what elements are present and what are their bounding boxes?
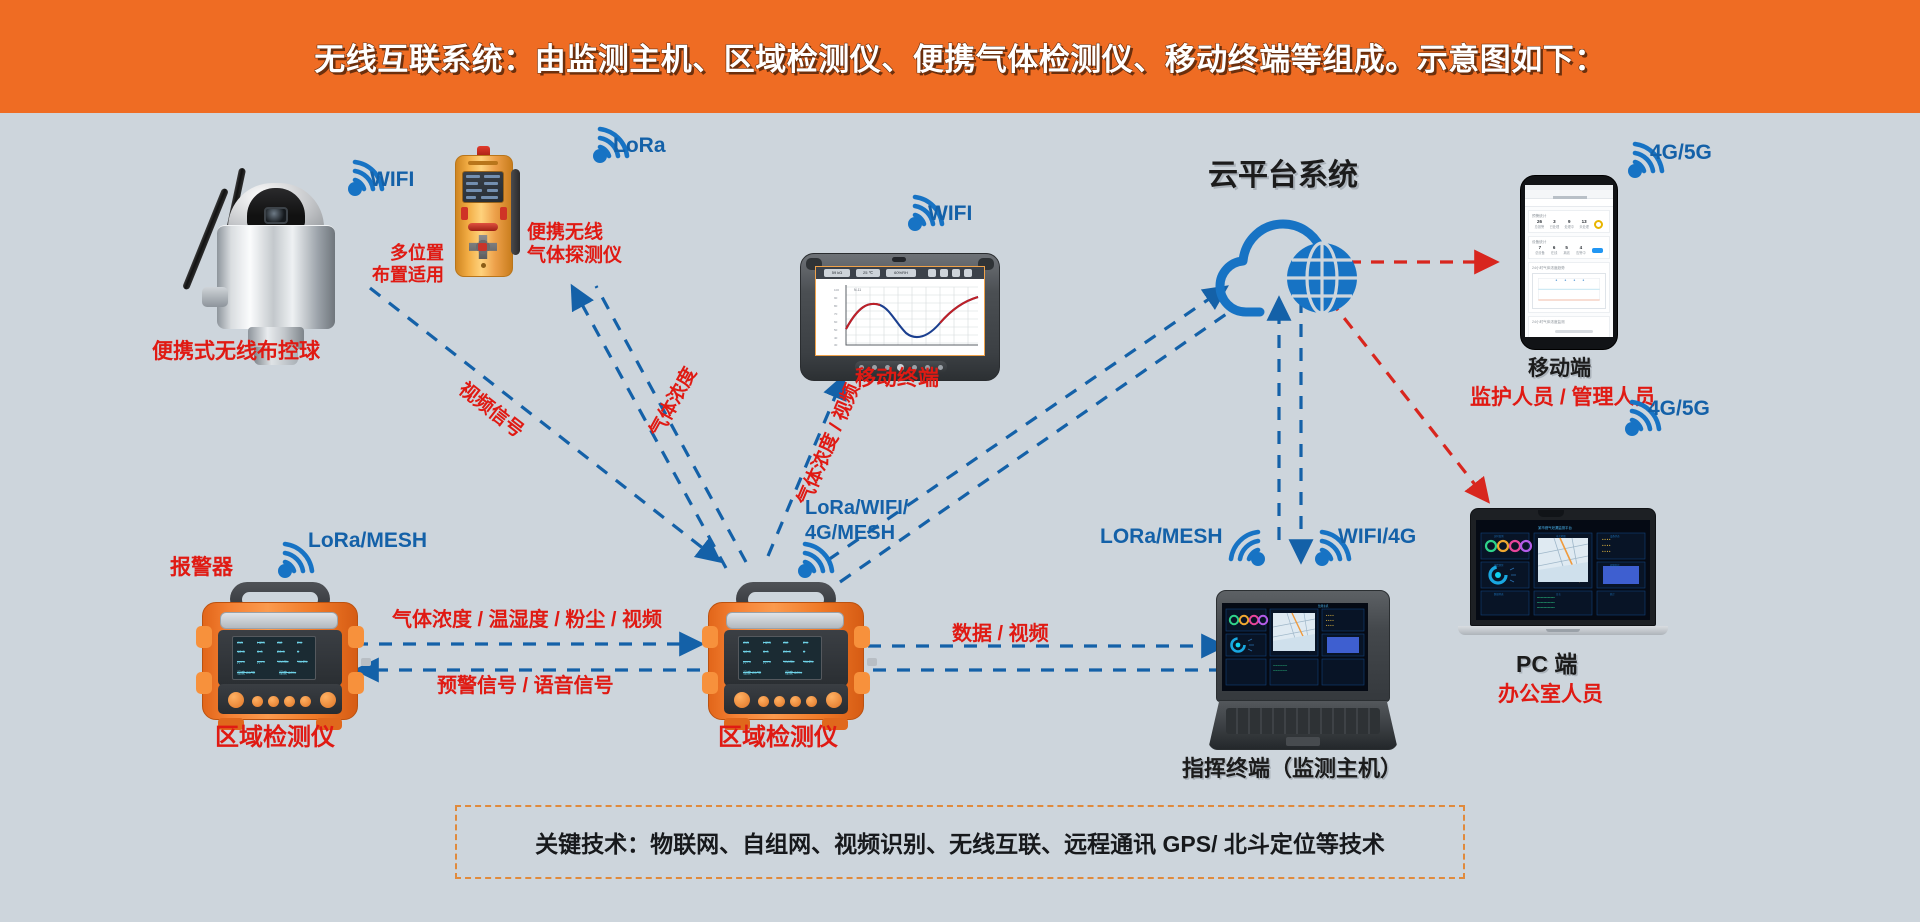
detector-button[interactable] <box>300 696 311 707</box>
cloud-platform-icon <box>1212 212 1382 324</box>
tablet-statusbar: 59 kΩ 25 ℃ 60%RH <box>816 267 984 279</box>
detector-vent <box>468 161 498 165</box>
phone-device-card: 设备统计 7总设备 6在线 5离线 4告警中 <box>1528 236 1610 259</box>
camera-lens <box>264 207 288 224</box>
bumper <box>854 672 870 694</box>
phone-appbar <box>1525 190 1613 199</box>
phone-kpi: 7总设备 <box>1535 245 1545 255</box>
header-banner: 无线互联系统：由监测主机、区域检测仪、便携气体检测仪、移动终端等组成。示意图如下… <box>0 0 1920 113</box>
detector-power-button[interactable] <box>468 223 498 231</box>
phone-kpi: 5离线 <box>1563 245 1569 255</box>
bumper <box>348 626 364 648</box>
svg-text:设备状态: 设备状态 <box>1610 534 1620 538</box>
gas-detector-label: 便携无线 气体探测仪 <box>527 221 622 267</box>
phone-gauge-icon <box>1594 220 1603 229</box>
tablet-screen: 59 kΩ 25 ℃ 60%RH 1009080 706050 4030 <box>815 266 985 356</box>
svg-text:● ● ● ●: ● ● ● ● <box>1326 614 1334 617</box>
pc-laptop-device: 某市燃气泄漏监测平台 <box>1458 508 1668 648</box>
svg-text:▪▪▪▪▪▪▪▪▪▪▪▪▪▪▪▪▪▪▪▪: ▪▪▪▪▪▪▪▪▪▪▪▪▪▪▪▪▪▪▪▪ <box>1273 665 1287 667</box>
detector-knob[interactable] <box>734 692 750 708</box>
phone-label: 移动端 <box>1528 356 1591 382</box>
detector-speaker-grille <box>220 612 338 629</box>
command-host-device: ● ● ● ●● ● ● ●● ● ● ● ▪▪▪▪▪▪▪▪▪▪▪▪▪▪▪▪▪▪… <box>1208 590 1398 750</box>
phone-kpi: 3已处理 <box>1550 219 1560 229</box>
phone-chart-card: 24小时气体浓度趋势 <box>1528 262 1610 313</box>
phone-kpi-row: 26总报警 3已处理 9处理中 13未处理 <box>1532 219 1606 229</box>
command-host-label: 指挥终端（监测主机） <box>1182 756 1402 783</box>
phone-wireless-label: 4G/5G <box>1650 140 1712 166</box>
detector-button[interactable] <box>758 696 769 707</box>
laptop-foot <box>1546 629 1580 632</box>
area-detector-left-label: 区域检测仪 <box>215 723 335 752</box>
detector-screen <box>462 171 504 203</box>
bumper <box>702 626 718 648</box>
camera-connector <box>202 287 228 307</box>
link-label-video-signal: 视频信号 <box>454 378 528 443</box>
detector-button[interactable] <box>284 696 295 707</box>
laptop-notch <box>1538 510 1564 517</box>
ptz-camera-device <box>190 155 365 370</box>
svg-text:▪▪▪▪▪▪▪▪▪▪▪▪▪▪▪▪▪▪▪▪: ▪▪▪▪▪▪▪▪▪▪▪▪▪▪▪▪▪▪▪▪ <box>1273 670 1287 672</box>
bumper <box>854 626 870 648</box>
tablet-camera-icon <box>892 257 906 262</box>
bumper <box>348 672 364 694</box>
tablet-trend-chart: 1009080 706050 4030 N-11 <box>832 283 980 353</box>
alarm-indicator-right <box>500 207 507 220</box>
gas-detector-wireless-label: LoRa <box>613 133 666 159</box>
ptz-wireless-label: WIFI <box>370 167 414 193</box>
svg-text:日志: 日志 <box>1556 592 1561 596</box>
svg-text:80: 80 <box>834 304 838 308</box>
command-host-wireless-left: LORa/MESH <box>1100 524 1223 550</box>
phone-kpi: 13未处理 <box>1579 219 1589 229</box>
area-detector-left-device: COH2SO2EX 12.50.020.90 ppmppm%VOL%LEL 温度… <box>196 580 364 728</box>
detector-button[interactable] <box>774 696 785 707</box>
detector-button[interactable] <box>268 696 279 707</box>
page-title: 无线互联系统：由监测主机、区域检测仪、便携气体检测仪、移动终端等组成。示意图如下… <box>314 34 1606 79</box>
phone-screen: 预警统计 26总报警 3已处理 9处理中 13未处理 设备统计 7总设备 6在线… <box>1525 185 1613 337</box>
tablet-status-item: 59 kΩ <box>824 269 850 277</box>
bumper <box>196 626 212 648</box>
command-host-wireless-right: WIFI/4G <box>1338 524 1416 550</box>
detector-button[interactable] <box>806 696 817 707</box>
phone-kpi: 6在线 <box>1551 245 1557 255</box>
area-detector-left-wireless: LoRa/MESH <box>308 528 427 554</box>
svg-text:▪▪▪▪▪▪▪▪▪▪▪▪▪▪▪▪▪▪▪▪▪▪▪: ▪▪▪▪▪▪▪▪▪▪▪▪▪▪▪▪▪▪▪▪▪▪▪ <box>1537 597 1555 599</box>
phone-toggle[interactable] <box>1592 248 1603 253</box>
phone-kpi: 4告警中 <box>1576 245 1586 255</box>
diagram-canvas: 无线互联系统：由监测主机、区域检测仪、便携气体检测仪、移动终端等组成。示意图如下… <box>0 0 1920 922</box>
mobile-terminal-device: 59 kΩ 25 ℃ 60%RH 1009080 706050 4030 <box>800 253 1000 381</box>
area-detector-center-label: 区域检测仪 <box>718 723 838 752</box>
svg-text:视频监控: 视频监控 <box>1610 563 1620 567</box>
phone-kpi: 26总报警 <box>1535 219 1545 229</box>
svg-text:● ● ● ●: ● ● ● ● <box>1326 624 1334 627</box>
svg-text:50: 50 <box>834 328 838 332</box>
svg-text:电子地图: 电子地图 <box>1556 534 1566 538</box>
svg-text:▪▪▪▪▪▪▪▪▪▪▪▪▪▪▪▪▪▪▪▪▪▪▪: ▪▪▪▪▪▪▪▪▪▪▪▪▪▪▪▪▪▪▪▪▪▪▪ <box>1537 607 1555 609</box>
phone-home-indicator <box>1555 330 1593 333</box>
svg-text:30: 30 <box>834 343 838 347</box>
key-technology-text: 关键技术：物联网、自组网、视频识别、无线互联、远程通讯 GPS/ 北斗定位等技术 <box>535 825 1385 859</box>
svg-text:● ● ● ●: ● ● ● ● <box>1602 538 1611 541</box>
svg-text:数据列表: 数据列表 <box>1494 592 1504 596</box>
svg-text:40: 40 <box>834 336 838 340</box>
detector-button[interactable] <box>790 696 801 707</box>
command-screen: ● ● ● ●● ● ● ●● ● ● ● ▪▪▪▪▪▪▪▪▪▪▪▪▪▪▪▪▪▪… <box>1222 603 1368 691</box>
bumper <box>196 672 212 694</box>
smartphone-device: 预警统计 26总报警 3已处理 9处理中 13未处理 设备统计 7总设备 6在线… <box>1520 175 1618 350</box>
svg-text:▪▪▪▪▪▪▪▪▪▪▪▪▪▪▪▪▪▪▪▪▪▪▪: ▪▪▪▪▪▪▪▪▪▪▪▪▪▪▪▪▪▪▪▪▪▪▪ <box>1537 602 1555 604</box>
phone-kpi: 9处理中 <box>1564 219 1574 229</box>
detector-display: COH2SO2EX 12.50.020.90 ppmppm%VOL%LEL 温度… <box>232 636 316 680</box>
key-technology-box: 关键技术：物联网、自组网、视频识别、无线互联、远程通讯 GPS/ 北斗定位等技术 <box>455 805 1465 879</box>
tablet-chart-title: N-11 <box>854 288 861 292</box>
detector-speaker-grille <box>726 612 844 629</box>
svg-text:60: 60 <box>834 320 838 324</box>
bumper <box>702 672 718 694</box>
svg-text:报警趋势: 报警趋势 <box>1494 563 1504 567</box>
svg-text:● ● ● ●: ● ● ● ● <box>1602 550 1611 553</box>
phone-chart-title: 24小时气体浓度趋势 <box>1532 266 1606 271</box>
svg-text:70: 70 <box>834 312 838 316</box>
globe-icon <box>1287 243 1357 313</box>
alarm-label: 报警器 <box>170 555 233 581</box>
svg-text:● ● ● ●: ● ● ● ● <box>1326 619 1334 622</box>
phone-app-title <box>1553 196 1587 199</box>
svg-text:统计: 统计 <box>1610 592 1615 596</box>
svg-text:100: 100 <box>834 288 839 292</box>
link-label-area-to-area-bottom: 预警信号 / 语音信号 <box>437 674 614 698</box>
mobile-terminal-wireless-label: WIFI <box>928 201 972 227</box>
detector-knob[interactable] <box>228 692 244 708</box>
mobile-terminal-label: 移动终端 <box>855 366 939 392</box>
link-label-gas-concentration: 气体浓度 <box>645 364 702 442</box>
detector-port <box>867 658 877 666</box>
command-keyboard[interactable] <box>1226 708 1380 734</box>
connector-layer <box>0 0 1920 922</box>
pc-dashboard-screen: 某市燃气泄漏监测平台 <box>1476 520 1650 620</box>
phone-tabbar[interactable] <box>1525 199 1613 207</box>
pc-wireless-label: 4G/5G <box>1648 396 1710 422</box>
phone-kpi-row: 7总设备 6在线 5离线 4告警中 <box>1532 245 1606 255</box>
detector-button[interactable] <box>252 696 263 707</box>
svg-text:实时监测: 实时监测 <box>1494 534 1504 538</box>
link-label-area-to-area-top: 气体浓度 / 温湿度 / 粉尘 / 视频 <box>392 608 662 632</box>
tablet-status-item: 25 ℃ <box>856 269 880 277</box>
svg-text:● ● ● ●: ● ● ● ● <box>1602 544 1611 547</box>
ptz-camera-label: 便携式无线布控球 <box>152 339 320 365</box>
cloud-platform-title: 云平台系统 <box>1208 158 1358 195</box>
wifi-icon <box>795 540 841 580</box>
svg-text:监测主机: 监测主机 <box>1318 604 1329 608</box>
detector-knob[interactable] <box>320 692 336 708</box>
link-label-gas-and-video: 气体浓度 / 视频 <box>793 380 865 509</box>
phone-alarm-card: 预警统计 26总报警 3已处理 9处理中 13未处理 <box>1528 210 1610 233</box>
detector-port <box>361 658 371 666</box>
tablet-status-item: 60%RH <box>886 269 916 277</box>
svg-text:90: 90 <box>834 296 838 300</box>
area-detector-center-wireless: LoRa/WIFI/ 4G/MESH <box>805 496 908 546</box>
phone-trend-chart <box>1532 273 1606 309</box>
link-label-data-video: 数据 / 视频 <box>952 622 1049 646</box>
pc-sublabel: 办公室人员 <box>1498 682 1603 708</box>
gas-detector-note: 多位置 布置适用 <box>372 243 444 287</box>
phone-list-card: 24小时气体浓度监测 <box>1528 316 1610 337</box>
wifi-icon <box>1222 528 1268 568</box>
command-trackpad[interactable] <box>1286 737 1320 746</box>
detector-mic <box>481 263 486 268</box>
detector-belt-clip <box>511 169 520 255</box>
detector-ok-button[interactable] <box>478 243 487 251</box>
detector-display: COH2SO2EX 12.50.020.90 ppmppm%VOL%LEL 温度… <box>738 636 822 680</box>
pc-label: PC 端 <box>1516 650 1577 678</box>
area-detector-center-device: COH2SO2EX 12.50.020.90 ppmppm%VOL%LEL 温度… <box>702 580 870 728</box>
pc-screen-title: 某市燃气泄漏监测平台 <box>1538 525 1573 530</box>
portable-gas-detector-device <box>455 155 513 277</box>
camera-body <box>217 225 335 329</box>
detector-knob[interactable] <box>826 692 842 708</box>
alarm-indicator-left <box>461 207 468 220</box>
